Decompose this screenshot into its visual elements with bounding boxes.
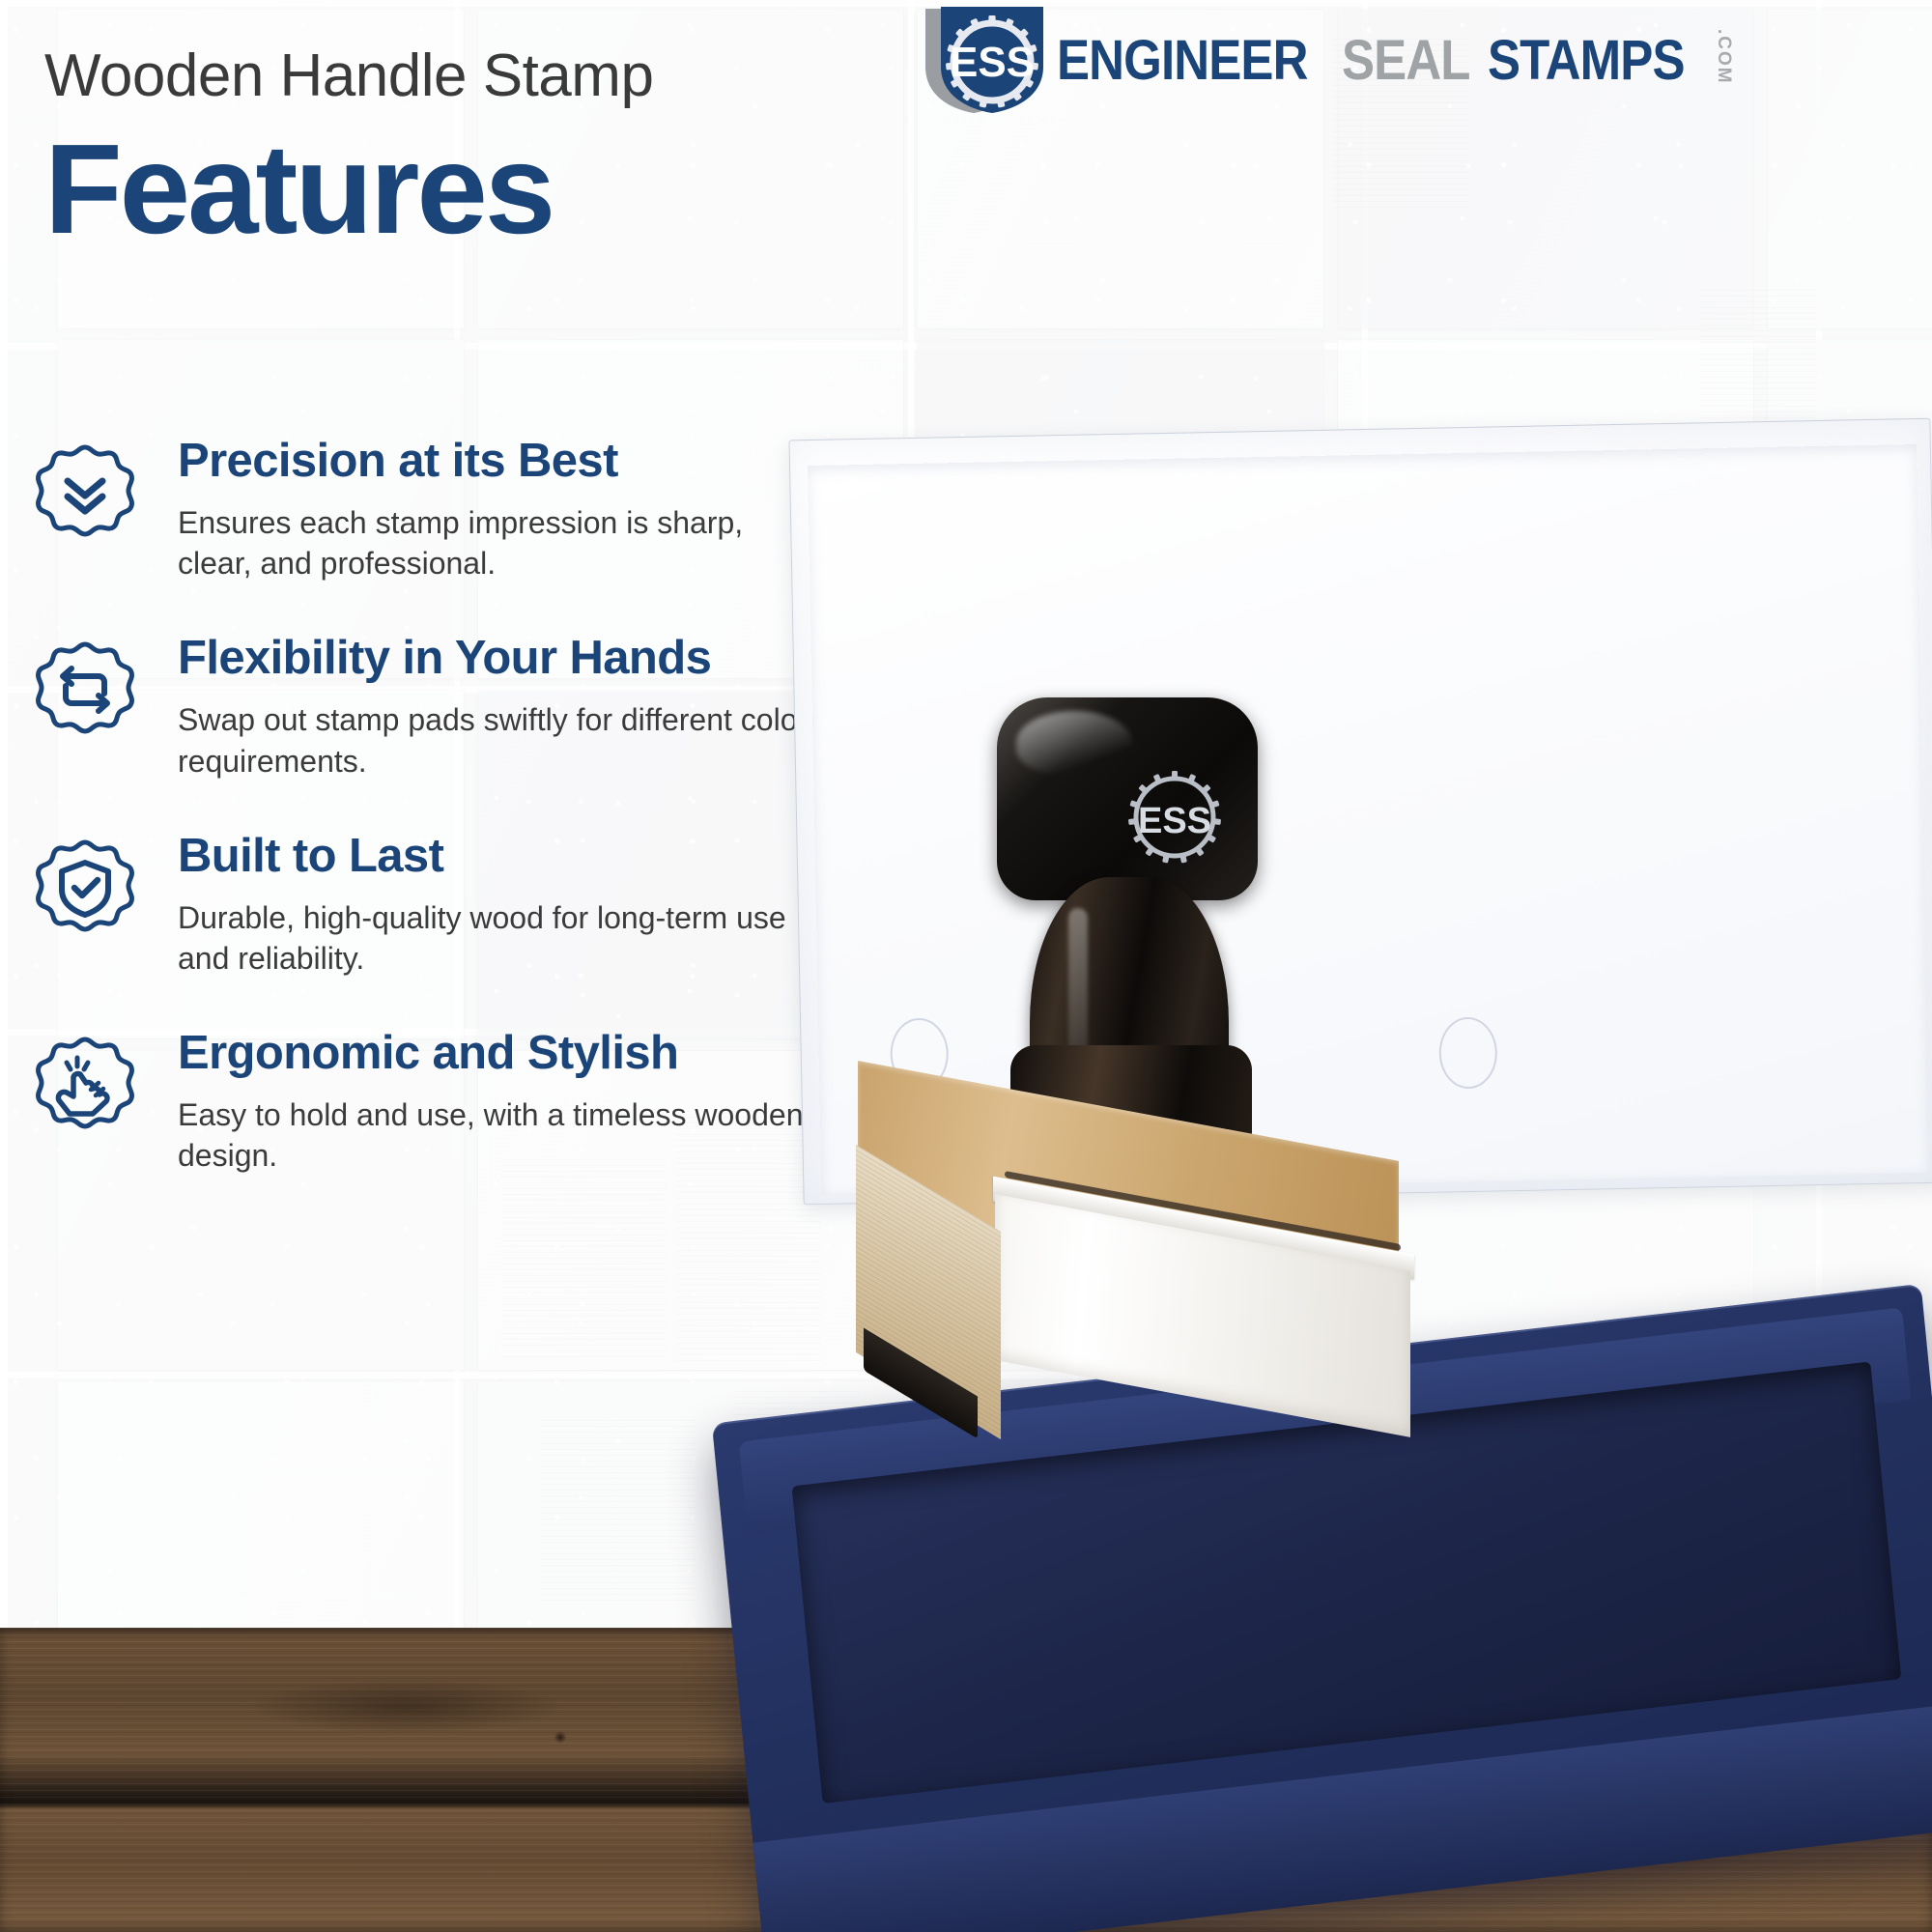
- brand-wordmark: ENGINEER SEAL STAMPS .COM: [1057, 7, 1734, 115]
- brand-word-stamps: STAMPS: [1488, 33, 1685, 89]
- double-chevron-down-badge-icon: [35, 442, 135, 543]
- swap-arrows-badge-icon: [35, 639, 135, 740]
- brand-logo[interactable]: ESS ENGINEER SEAL STAMPS .COM: [920, 8, 1734, 114]
- stamp-handle-logo-text: ESS: [1138, 801, 1211, 841]
- feature-item: Flexibility in Your Hands Swap out stamp…: [35, 634, 885, 781]
- stamp-handle-highlight: [1016, 711, 1132, 775]
- ess-mark-text: ESS: [950, 39, 1035, 86]
- stamp-handle-ess-icon: ESS: [1119, 761, 1231, 873]
- product-photo: ESS: [773, 386, 1932, 1932]
- ess-shield-icon: ESS: [920, 7, 1043, 115]
- infographic-canvas: Wooden Handle Stamp Features: [0, 0, 1932, 1932]
- feature-description: Easy to hold and use, with a timeless wo…: [178, 1094, 815, 1176]
- brand-word-engineer: ENGINEER: [1057, 33, 1308, 89]
- rubber-stamp: ESS: [840, 686, 1517, 1459]
- brand-tld: .COM: [1713, 29, 1734, 93]
- feature-item: Built to Last Durable, high-quality wood…: [35, 832, 885, 979]
- feature-item: Precision at its Best Ensures each stamp…: [35, 437, 885, 583]
- feature-description: Swap out stamp pads swiftly for differen…: [178, 699, 815, 781]
- feature-item: Ergonomic and Stylish Easy to hold and u…: [35, 1029, 885, 1176]
- shield-check-badge-icon: [35, 838, 135, 938]
- page-title: Features: [44, 126, 553, 253]
- page-eyebrow: Wooden Handle Stamp: [44, 46, 653, 106]
- feature-description: Durable, high-quality wood for long-term…: [178, 897, 815, 979]
- feature-description: Ensures each stamp impression is sharp, …: [178, 502, 815, 583]
- feature-list: Precision at its Best Ensures each stamp…: [35, 437, 885, 1177]
- brand-word-seal: SEAL: [1342, 33, 1470, 89]
- tap-hand-badge-icon: [35, 1035, 135, 1135]
